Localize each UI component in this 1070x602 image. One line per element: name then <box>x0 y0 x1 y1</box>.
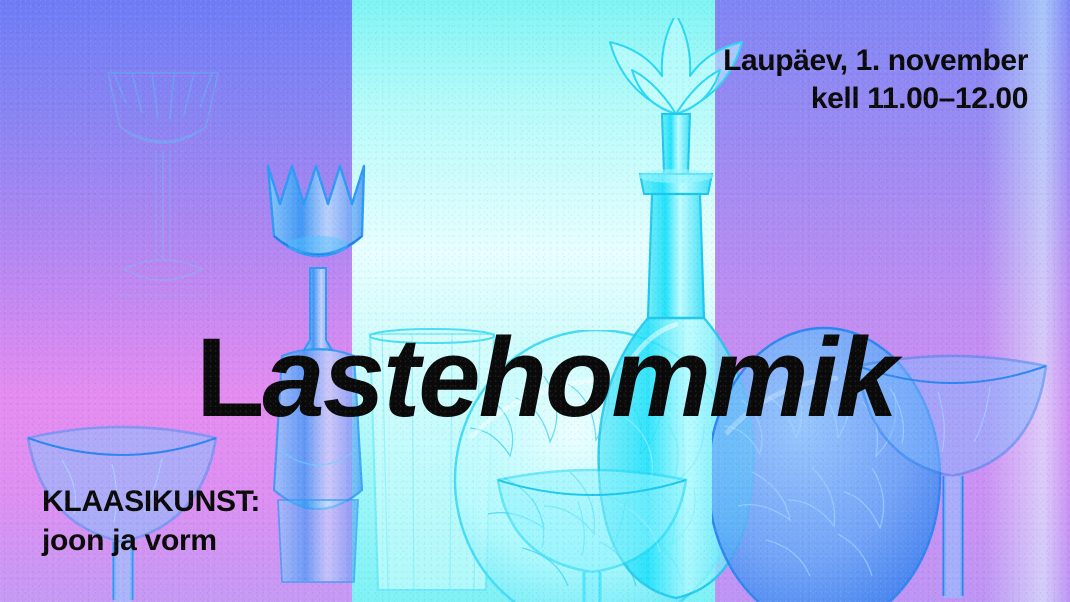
event-subject: KLAASIKUNST: joon ja vorm <box>42 483 260 560</box>
event-poster: Laupäev, 1. november kell 11.00–12.00 La… <box>0 0 1070 602</box>
ghost-goblet-icon <box>88 55 238 310</box>
coupe-centre-icon <box>492 468 692 602</box>
page-title: Lastehommik <box>196 322 896 434</box>
event-date: Laupäev, 1. november <box>723 42 1028 80</box>
title-upright-prefix: L <box>196 315 262 440</box>
event-time: kell 11.00–12.00 <box>723 80 1028 118</box>
event-subject-heading: KLAASIKUNST: <box>42 483 260 521</box>
event-subject-subheading: joon ja vorm <box>42 522 260 560</box>
event-datetime: Laupäev, 1. november kell 11.00–12.00 <box>723 42 1028 119</box>
title-italic-rest: astehommik <box>262 315 896 440</box>
